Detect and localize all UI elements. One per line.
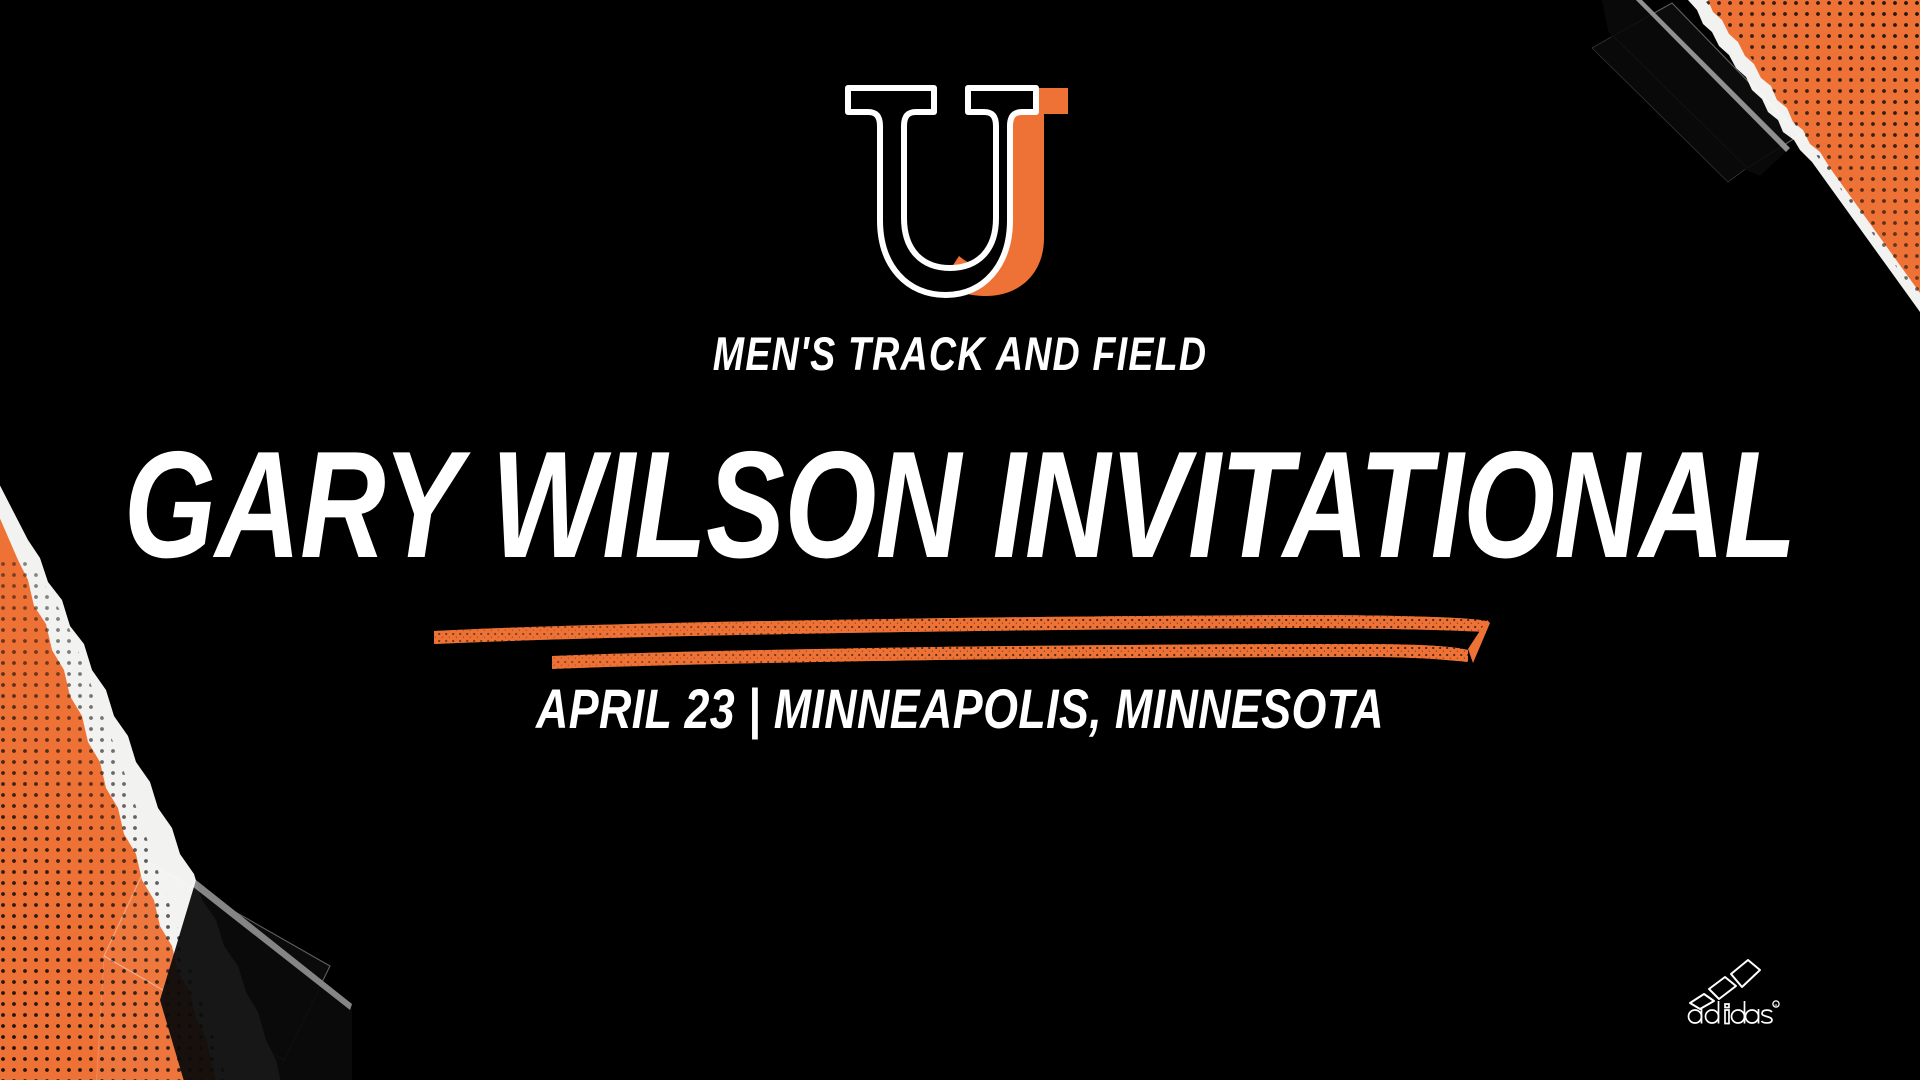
dark-flap-left [160,880,352,1080]
brush-stroke-divider [430,611,1490,675]
adidas-three-stripes-icon [1690,960,1760,1009]
uj-monogram-logo [830,68,1090,303]
event-title: GARY WILSON INVITATIONAL [124,429,1796,581]
svg-text:R: R [1775,1002,1778,1007]
registered-trademark-icon: R [1773,1001,1779,1008]
event-meta: APRIL 23 | MINNEAPOLIS, MINNESOTA [536,681,1384,737]
adidas-wordmark [1689,1001,1773,1024]
tape-strip-left [96,862,330,1080]
sport-label: MEN'S TRACK AND FIELD [713,330,1207,377]
flap-highlight-left [192,880,352,1010]
graphic-canvas: MEN'S TRACK AND FIELD GARY WILSON INVITA… [0,0,1920,1080]
adidas-logo: R [1684,958,1792,1028]
text-content-block: MEN'S TRACK AND FIELD GARY WILSON INVITA… [0,330,1920,737]
logo-block [0,68,1920,303]
